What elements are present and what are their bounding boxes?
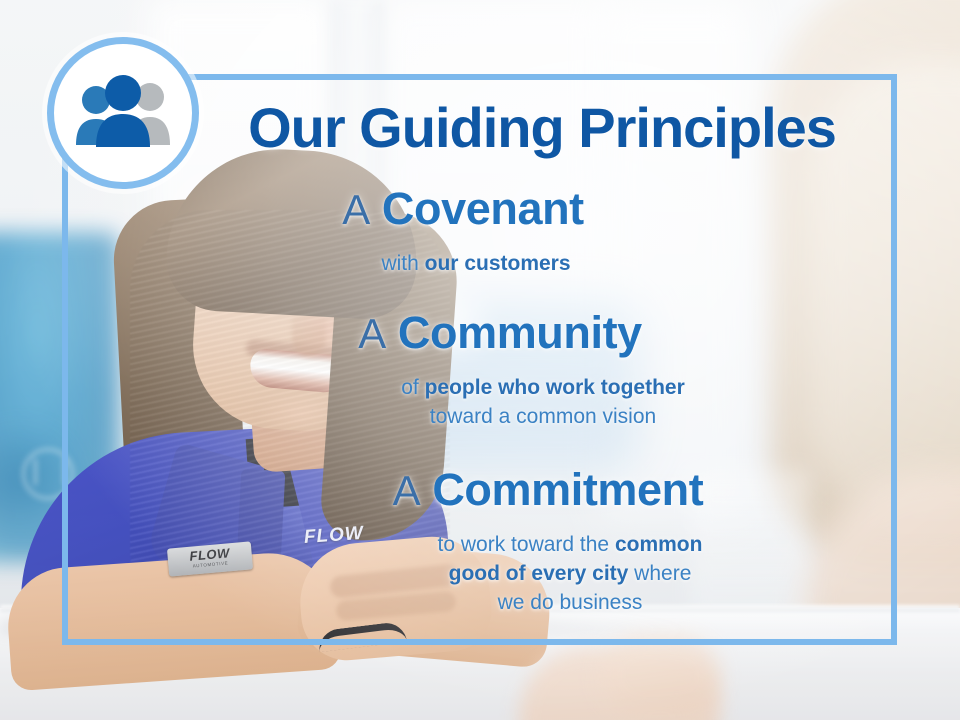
principle-heading: A Community [162, 308, 882, 373]
principle-article: A [358, 310, 386, 357]
principle-subtext: with our customers [162, 249, 882, 278]
principle-subtext: of people who work togethertoward a comm… [162, 373, 882, 431]
principle-article: A [342, 186, 370, 233]
people-badge [47, 37, 199, 189]
principle-item-community: A Community of people who work togethert… [162, 308, 882, 431]
principles-list: A Covenant with our customers A Communit… [162, 184, 882, 621]
principle-noun: Covenant [382, 183, 584, 234]
principle-item-covenant: A Covenant with our customers [162, 184, 882, 278]
promo-graphic: FLOW FLOW AUTOMOTIVE Our Guiding Princip… [0, 0, 960, 720]
principle-heading: A Covenant [162, 184, 882, 249]
principle-subtext: to work toward the commongood of every c… [162, 530, 882, 617]
principle-article: A [393, 467, 421, 514]
content-area: Our Guiding Principles A Covenant with o… [62, 74, 897, 645]
page-title: Our Guiding Principles [212, 98, 872, 158]
principle-noun: Commitment [432, 464, 703, 515]
principle-heading: A Commitment [162, 465, 882, 530]
people-group-icon [71, 75, 175, 151]
principle-noun: Community [398, 307, 642, 358]
principle-item-commitment: A Commitment to work toward the commongo… [162, 465, 882, 617]
